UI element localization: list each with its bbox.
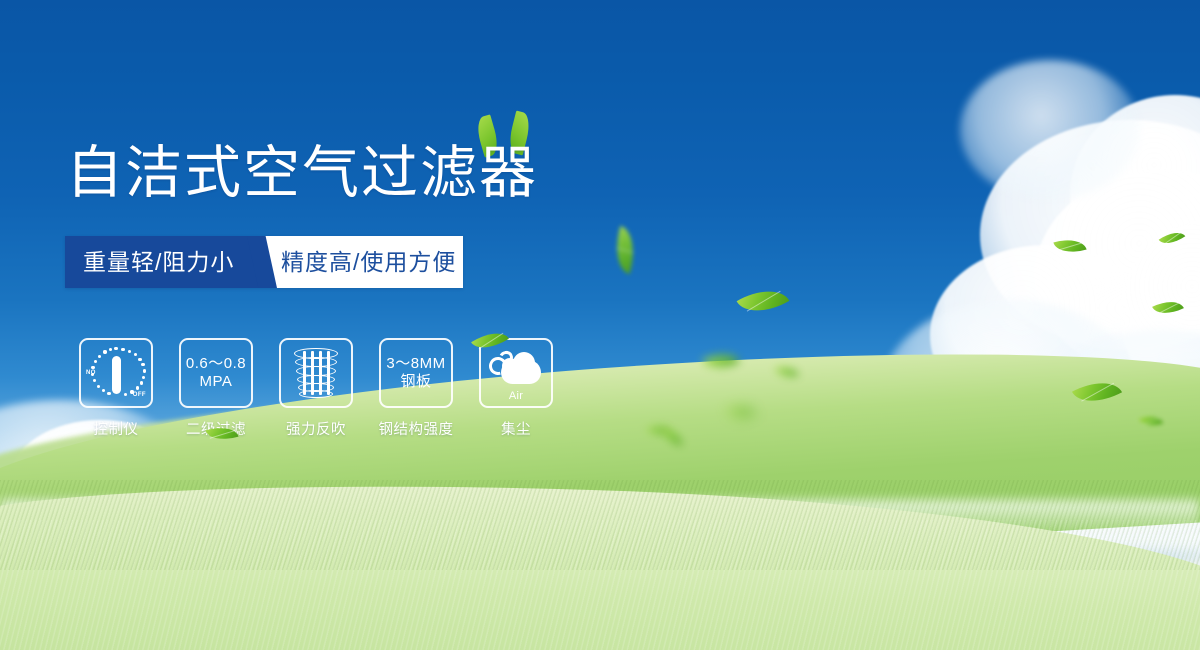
subtitle-primary-label: 重量轻/阻力小	[83, 236, 234, 288]
feature-item-backblow[interactable]: 强力反吹	[279, 338, 353, 439]
pressure-unit-line: MPA	[186, 373, 246, 391]
filter-cartridge-icon	[293, 347, 339, 399]
gauge-on-label: NO	[86, 370, 96, 376]
feature-item-two-stage-filter[interactable]: 0.6～0.8 MPA 二级过滤	[179, 338, 253, 439]
feature-list: NO OFF 控制仪 0.6～0.8 MPA 二级过滤	[79, 338, 553, 439]
product-banner: 自洁式空气过滤器 重量轻/阻力小 精度高/使用方便	[0, 0, 1200, 650]
feature-item-controller[interactable]: NO OFF 控制仪	[79, 338, 153, 439]
feature-label: 钢结构强度	[367, 418, 465, 439]
subtitle-secondary-label: 精度高/使用方便	[281, 236, 456, 288]
subtitle-bar: 重量轻/阻力小 精度高/使用方便	[65, 236, 463, 288]
pressure-range-line: 0.6～0.8	[186, 355, 246, 373]
cloud-puff	[960, 60, 1140, 200]
page-title: 自洁式空气过滤器	[66, 145, 538, 202]
feature-item-dust-collection[interactable]: Air 集尘	[479, 338, 553, 439]
feature-icon-box: Air	[479, 338, 553, 408]
feature-label: 控制仪	[79, 418, 153, 439]
feature-item-steel-strength[interactable]: 3～8MM 钢板 钢结构强度	[379, 338, 453, 439]
feature-icon-box: 3～8MM 钢板	[379, 338, 453, 408]
steel-plate-line: 钢板	[386, 373, 445, 391]
feature-label: 集尘	[479, 418, 553, 439]
gauge-needle	[112, 356, 121, 394]
air-cloud-icon: Air	[487, 348, 545, 398]
feature-icon-box	[279, 338, 353, 408]
steel-plate-text-icon: 3～8MM 钢板	[386, 355, 445, 391]
feature-icon-box: NO OFF	[79, 338, 153, 408]
gauge-icon: NO OFF	[88, 345, 144, 401]
gauge-off-label: OFF	[133, 392, 146, 398]
steel-thickness-line: 3～8MM	[386, 355, 445, 373]
feature-label: 强力反吹	[279, 418, 353, 439]
air-label: Air	[487, 390, 545, 402]
feature-icon-box: 0.6～0.8 MPA	[179, 338, 253, 408]
pressure-text-icon: 0.6～0.8 MPA	[186, 355, 246, 391]
